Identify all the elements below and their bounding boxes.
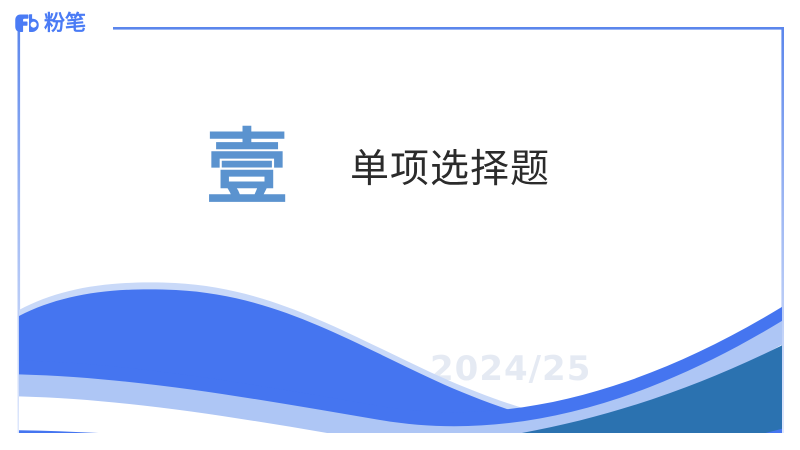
wave-pale-crest <box>19 282 800 450</box>
watermark-text: 2024/25 <box>430 349 591 389</box>
wave-light-ribbon <box>0 300 800 448</box>
section-numeral: 壹 <box>206 128 288 210</box>
wave-bright-ribbon <box>0 288 800 426</box>
wave-below-slide-mask <box>0 433 800 450</box>
brand-name: 粉笔 <box>44 10 86 36</box>
section-title: 单项选择题 <box>350 150 550 189</box>
wave-bottom-strip <box>0 420 800 450</box>
blue-wave-decoration-icon <box>0 0 800 450</box>
brand-logo: 粉笔 <box>14 10 86 36</box>
wave-deep-band <box>0 330 800 449</box>
fenbi-fb-logo-icon <box>14 10 40 36</box>
wave-white-gap <box>0 330 800 450</box>
slide-heading: 壹 单项选择题 <box>0 128 800 210</box>
presentation-slide: 粉笔 2024/25 壹 单项选择题 <box>0 0 800 450</box>
slide-border-frame-icon <box>0 0 800 450</box>
wave-main-left <box>19 289 800 450</box>
